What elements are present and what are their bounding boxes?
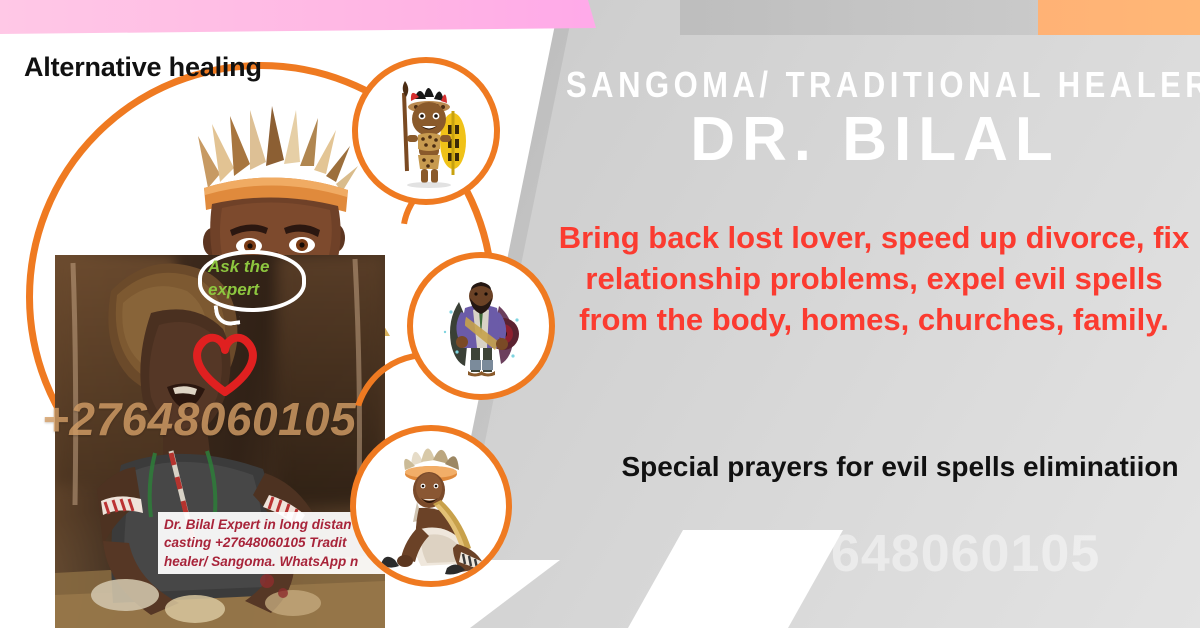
page-title: DR. BILAL — [566, 104, 1184, 175]
heart-icon — [188, 330, 262, 401]
zulu-warrior-icon — [366, 71, 486, 191]
bearded-healer-icon — [421, 266, 541, 386]
badge-bearded-healer — [407, 252, 555, 400]
panel-phone-watermark: +27648060105 — [640, 524, 1200, 584]
badge-zulu-warrior — [352, 57, 500, 205]
services-text: Bring back lost lover, speed up divorce,… — [548, 218, 1200, 341]
caption-line-3: healer/ Sangoma. WhatsApp n — [164, 553, 390, 571]
special-offer-text: Special prayers for evil spells eliminat… — [600, 448, 1200, 486]
badge-crouching-warrior — [350, 425, 512, 587]
speech-bubble-text: Ask the expert — [208, 256, 304, 302]
tagline: Alternative healing — [24, 52, 262, 83]
poster-canvas: Ask the expert +27648060105 Dr. Bilal Ex… — [0, 0, 1200, 628]
kicker-text: SANGOMA/ TRADITIONAL HEALER — [566, 64, 1184, 106]
crouching-warrior-icon — [361, 436, 501, 576]
